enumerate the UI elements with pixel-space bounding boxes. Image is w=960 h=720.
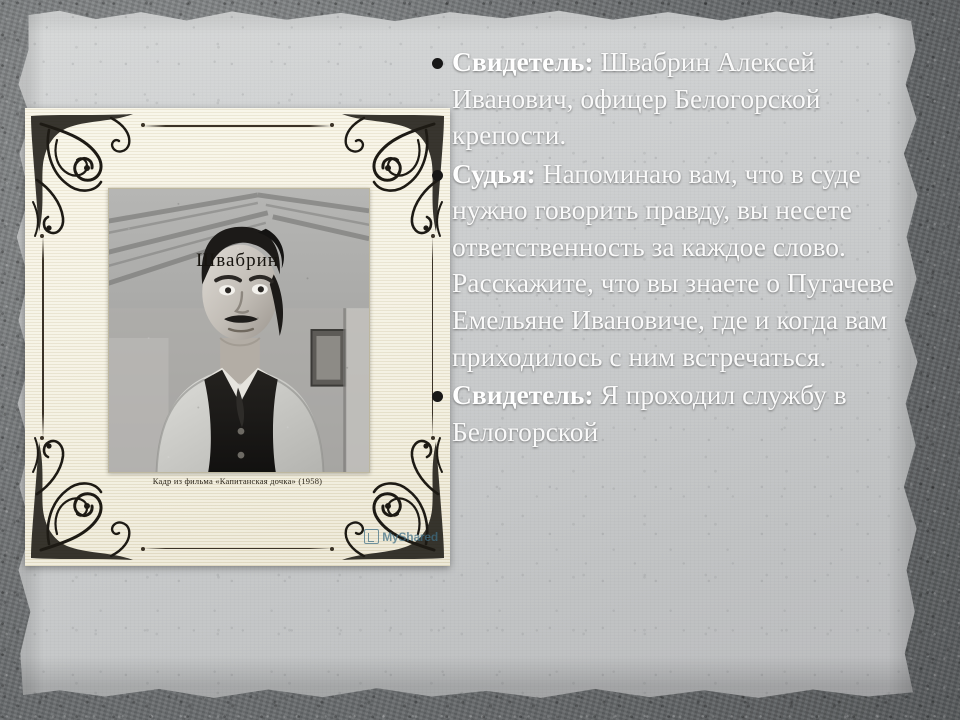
frame-rule-dot bbox=[141, 123, 145, 127]
bullet-item: Судья: Напоминаю вам, что в суде нужно г… bbox=[432, 156, 918, 375]
frame-rule-top bbox=[143, 125, 332, 127]
slide-root: Швабрин bbox=[0, 0, 960, 720]
bullet-text: Свидетель: Я проходил службу в Белогорск… bbox=[452, 377, 918, 450]
myshared-badge-icon bbox=[364, 529, 379, 544]
bullet-item: Свидетель: Швабрин Алексей Иванович, офи… bbox=[432, 44, 918, 154]
frame-rule-dot bbox=[330, 123, 334, 127]
speaker-separator: : bbox=[584, 379, 593, 410]
bullet-item: Свидетель: Я проходил службу в Белогорск… bbox=[432, 377, 918, 450]
bullet-text-column: Свидетель: Швабрин Алексей Иванович, офи… bbox=[432, 44, 918, 720]
frame-rule-dot bbox=[40, 436, 44, 440]
speaker-label: Судья bbox=[452, 158, 527, 189]
frame-rule-bottom bbox=[143, 548, 332, 550]
speaker-separator: : bbox=[584, 46, 593, 77]
speaker-label: Свидетель bbox=[452, 46, 584, 77]
speech-text: Напоминаю вам, что в суде нужно говорить… bbox=[452, 158, 894, 372]
speaker-label: Свидетель bbox=[452, 379, 584, 410]
bullet-point-icon bbox=[432, 58, 443, 69]
picture-caption: Кадр из фильма «Капитанская дочка» (1958… bbox=[25, 476, 450, 486]
picture-title: Швабрин bbox=[25, 250, 450, 272]
bullet-point-icon bbox=[432, 391, 443, 402]
picture-card[interactable]: Швабрин bbox=[25, 108, 450, 566]
myshared-watermark-label: MyShared bbox=[382, 530, 438, 544]
frame-rule-dot bbox=[141, 547, 145, 551]
myshared-watermark: MyShared bbox=[364, 529, 438, 544]
bullet-text: Судья: Напоминаю вам, что в суде нужно г… bbox=[452, 156, 918, 375]
speaker-separator: : bbox=[527, 158, 536, 189]
film-still-photo bbox=[108, 188, 370, 473]
bullet-text: Свидетель: Швабрин Алексей Иванович, офи… bbox=[452, 44, 918, 154]
frame-rule-dot bbox=[40, 234, 44, 238]
frame-rule-dot bbox=[330, 547, 334, 551]
bullet-point-icon bbox=[432, 170, 443, 181]
